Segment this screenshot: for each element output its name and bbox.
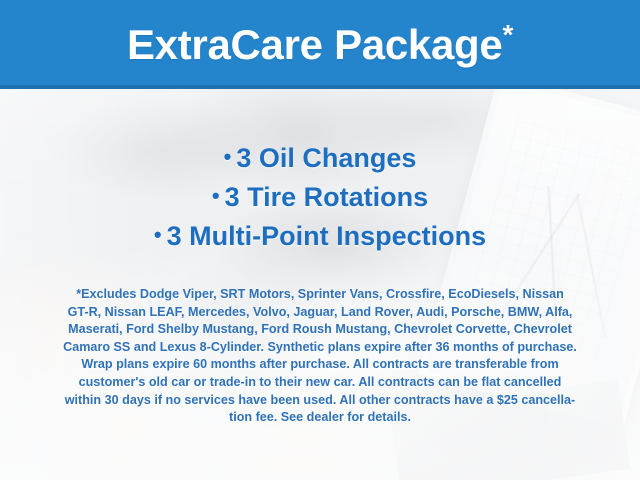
benefit-item: •3 Multi-Point Inspections (0, 216, 640, 255)
benefit-item-label: 3 Tire Rotations (225, 182, 429, 212)
benefit-item: •3 Oil Changes (0, 138, 640, 177)
bullet-icon: • (212, 183, 220, 208)
legal-disclaimer: *Excludes Dodge Viper, SRT Motors, Sprin… (32, 286, 608, 427)
header-banner: ExtraCare Package* (0, 0, 640, 89)
disclaimer-line: tion fee. See dealer for details. (32, 409, 608, 427)
page-title: ExtraCare Package* (127, 24, 513, 66)
extracare-package-promo-card: ExtraCare Package* •3 Oil Changes •3 Tir… (0, 0, 640, 480)
disclaimer-line: within 30 days if no services have been … (32, 392, 608, 410)
disclaimer-line: Maserati, Ford Shelby Mustang, Ford Rous… (32, 321, 608, 339)
bullet-icon: • (224, 144, 232, 169)
disclaimer-line: customer's old car or trade-in to their … (32, 374, 608, 392)
disclaimer-line: GT-R, Nissan LEAF, Mercedes, Volvo, Jagu… (32, 304, 608, 322)
benefit-item: •3 Tire Rotations (0, 177, 640, 216)
page-title-text: ExtraCare Package (127, 21, 502, 68)
benefits-list: •3 Oil Changes •3 Tire Rotations •3 Mult… (0, 138, 640, 255)
disclaimer-line: *Excludes Dodge Viper, SRT Motors, Sprin… (32, 286, 608, 304)
benefit-item-label: 3 Multi-Point Inspections (167, 221, 487, 251)
title-asterisk: * (502, 19, 513, 50)
benefit-item-label: 3 Oil Changes (236, 143, 416, 173)
bullet-icon: • (154, 222, 162, 247)
disclaimer-line: Camaro SS and Lexus 8-Cylinder. Syntheti… (32, 339, 608, 357)
disclaimer-line: Wrap plans expire 60 months after purcha… (32, 356, 608, 374)
